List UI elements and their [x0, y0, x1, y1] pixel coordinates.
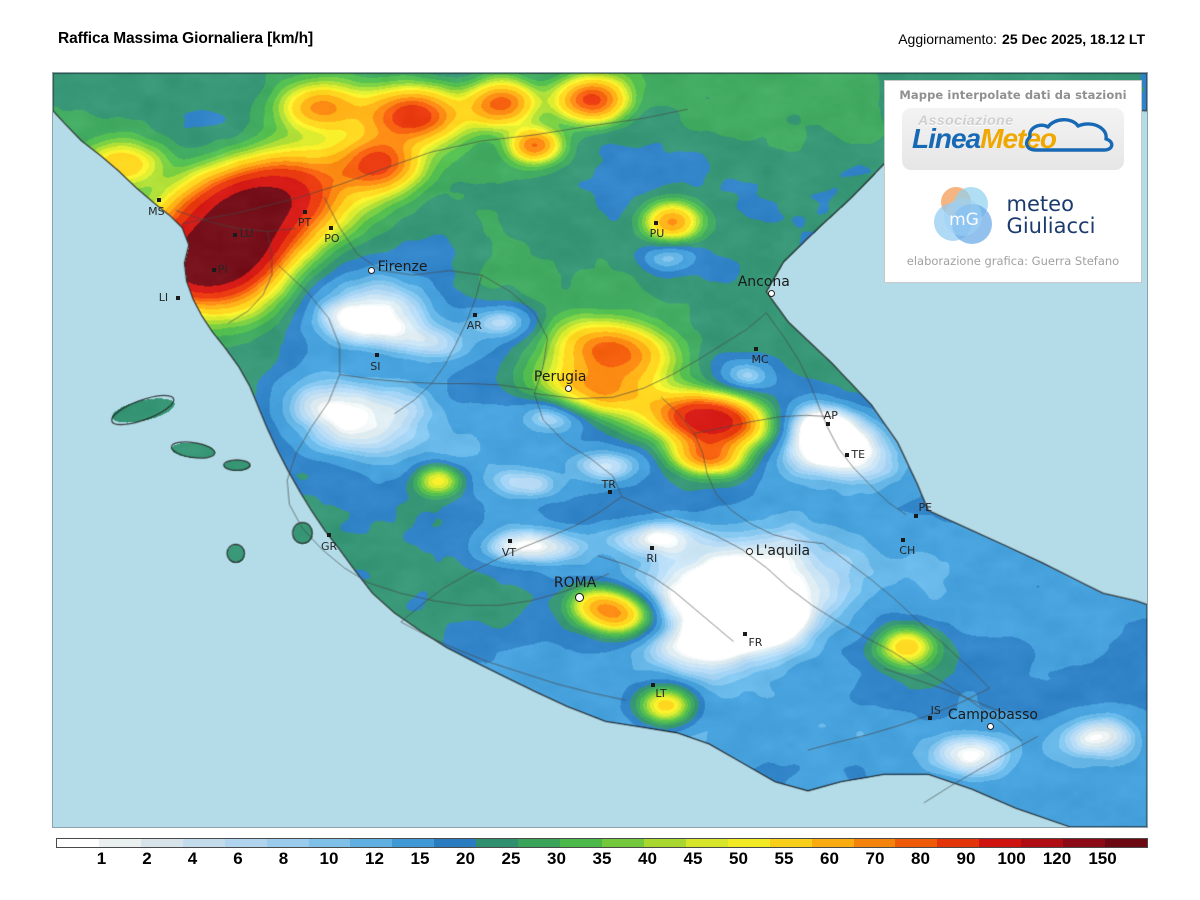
colorbar-tick-40: 40: [638, 849, 657, 869]
colorbar-tick-6: 6: [233, 849, 242, 869]
update-value: 25 Dec 2025, 18.12 LT: [1002, 31, 1145, 47]
colorbar-tick-50: 50: [729, 849, 748, 869]
colorbar-segment-1: [99, 839, 141, 847]
colorbar-tick-8: 8: [279, 849, 288, 869]
colorbar-segment-12: [560, 839, 602, 847]
colorbar-tick-60: 60: [820, 849, 839, 869]
colorbar-segment-6: [309, 839, 351, 847]
update-timestamp: Aggiornamento:25 Dec 2025, 18.12 LT: [898, 31, 1145, 47]
colorbar-segment-18: [812, 839, 854, 847]
panel-caption-top: Mappe interpolate dati da stazioni: [893, 88, 1133, 102]
colorbar-segment-15: [686, 839, 728, 847]
meteogiuliacci-wordmark: meteo Giuliacci: [1007, 193, 1096, 237]
colorbar-tick-90: 90: [957, 849, 976, 869]
colorbar-tick-10: 10: [320, 849, 339, 869]
colorbar-segment-2: [141, 839, 183, 847]
lineameteo-word-linea: Linea: [912, 123, 980, 154]
mg-line-2: Giuliacci: [1007, 215, 1096, 237]
colorbar-tick-150: 150: [1088, 849, 1116, 869]
colorbar-gradient[interactable]: [56, 838, 1148, 848]
lineameteo-logo[interactable]: Associazione LineaMeteo: [902, 108, 1124, 170]
panel-caption-bottom: elaborazione grafica: Guerra Stefano: [893, 254, 1133, 268]
page-title: Raffica Massima Giornaliera [km/h]: [58, 30, 313, 48]
colorbar-segment-23: [1021, 839, 1063, 847]
logo-panel: Mappe interpolate dati da stazioni Assoc…: [884, 80, 1142, 283]
colorbar-segment-25: [1105, 839, 1147, 847]
colorbar-segment-8: [392, 839, 434, 847]
colorbar-segment-4: [225, 839, 267, 847]
meteogiuliacci-logo[interactable]: mG meteo Giuliacci: [893, 179, 1133, 251]
colorbar-segment-20: [895, 839, 937, 847]
colorbar-segment-10: [476, 839, 518, 847]
colorbar-segment-9: [434, 839, 476, 847]
colorbar-tick-20: 20: [456, 849, 475, 869]
svg-text:mG: mG: [949, 210, 979, 230]
colorbar-tick-80: 80: [911, 849, 930, 869]
colorbar-tick-120: 120: [1043, 849, 1071, 869]
colorbar-tick-35: 35: [593, 849, 612, 869]
weather-map-page: Raffica Massima Giornaliera [km/h] Aggio…: [0, 0, 1200, 900]
colorbar-segment-24: [1063, 839, 1105, 847]
colorbar-legend[interactable]: 1246810121520253035404550556070809010012…: [56, 838, 1148, 873]
colorbar-tick-70: 70: [866, 849, 885, 869]
colorbar-tick-100: 100: [997, 849, 1025, 869]
colorbar-segment-17: [770, 839, 812, 847]
colorbar-segment-11: [518, 839, 560, 847]
colorbar-tick-30: 30: [547, 849, 566, 869]
cloud-icon: [1022, 116, 1118, 156]
mg-badge-icon: mG: [931, 184, 997, 246]
colorbar-tick-2: 2: [142, 849, 151, 869]
colorbar-tick-1: 1: [97, 849, 106, 869]
colorbar-segment-22: [979, 839, 1021, 847]
colorbar-segment-5: [267, 839, 309, 847]
mg-line-1: meteo: [1007, 192, 1074, 216]
colorbar-tick-12: 12: [365, 849, 384, 869]
colorbar-segment-21: [937, 839, 979, 847]
colorbar-segment-0: [57, 839, 99, 847]
colorbar-segment-7: [350, 839, 392, 847]
colorbar-tick-labels: 1246810121520253035404550556070809010012…: [56, 849, 1148, 873]
colorbar-tick-55: 55: [775, 849, 794, 869]
colorbar-segment-13: [602, 839, 644, 847]
colorbar-segment-19: [854, 839, 896, 847]
colorbar-tick-25: 25: [502, 849, 521, 869]
colorbar-tick-4: 4: [188, 849, 197, 869]
colorbar-tick-15: 15: [411, 849, 430, 869]
colorbar-segment-3: [183, 839, 225, 847]
update-label: Aggiornamento:: [898, 31, 997, 47]
colorbar-segment-14: [644, 839, 686, 847]
colorbar-segment-16: [728, 839, 770, 847]
colorbar-tick-45: 45: [684, 849, 703, 869]
